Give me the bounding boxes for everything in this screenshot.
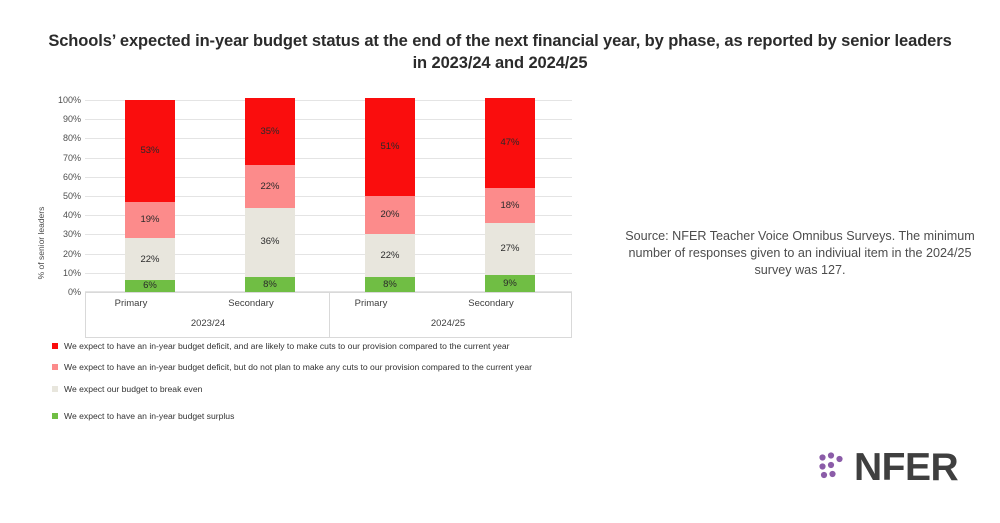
y-tick-label: 60%	[35, 172, 81, 182]
bar-segment-value-label: 9%	[503, 279, 517, 289]
bar-segment-value-label: 22%	[260, 182, 279, 192]
y-tick-label: 100%	[35, 95, 81, 105]
nfer-logo: NFER	[818, 444, 978, 494]
bar-segment-secondary-2023-s1: 22%	[245, 165, 295, 207]
y-axis-tick-labels: 100% 90% 80% 70% 60% 50% 40% 30% 20% 10%…	[33, 100, 81, 292]
bar-segment-secondary-2024-s3: 9%	[485, 275, 535, 292]
category-label-secondary-2023: Secondary	[196, 298, 306, 309]
bar-primary-2023: 53%19%22%6%	[125, 100, 175, 292]
legend-label: We expect to have an in-year budget defi…	[64, 340, 510, 352]
nfer-dots-icon	[818, 450, 852, 484]
y-tick-label: 30%	[35, 229, 81, 239]
bar-segment-value-label: 22%	[140, 255, 159, 265]
legend-swatch-icon	[52, 343, 58, 349]
bar-segment-primary-2024-s3: 8%	[365, 277, 415, 292]
page-title: Schools’ expected in-year budget status …	[40, 30, 960, 75]
y-tick-label: 70%	[35, 153, 81, 163]
legend-swatch-icon	[52, 364, 58, 370]
legend-swatch-icon	[52, 413, 58, 419]
bar-secondary-2024: 47%18%27%9%	[485, 98, 535, 292]
legend-item-deficit-cuts[interactable]: We expect to have an in-year budget defi…	[52, 340, 582, 352]
y-tick-label: 80%	[35, 133, 81, 143]
bar-segment-secondary-2024-s2: 27%	[485, 223, 535, 275]
bar-segment-value-label: 8%	[383, 280, 397, 290]
legend-label: We expect to have an in-year budget surp…	[64, 410, 234, 422]
legend-item-surplus[interactable]: We expect to have an in-year budget surp…	[52, 410, 582, 422]
bar-segment-value-label: 20%	[380, 210, 399, 220]
plot-area: 53%19%22%6%35%22%36%8%51%20%22%8%47%18%2…	[85, 100, 572, 292]
bar-segment-secondary-2023-s2: 36%	[245, 208, 295, 277]
category-label-secondary-2024: Secondary	[436, 298, 546, 309]
y-tick-label: 20%	[35, 249, 81, 259]
y-tick-label: 40%	[35, 210, 81, 220]
bar-segment-value-label: 47%	[500, 138, 519, 148]
bar-segment-value-label: 51%	[380, 142, 399, 152]
bar-segment-value-label: 19%	[140, 215, 159, 225]
nfer-wordmark: NFER	[854, 444, 958, 492]
bar-segment-value-label: 6%	[143, 281, 157, 291]
y-tick-label: 10%	[35, 268, 81, 278]
bar-segment-value-label: 53%	[140, 146, 159, 156]
y-tick-label: 90%	[35, 114, 81, 124]
bar-segment-value-label: 27%	[500, 244, 519, 254]
bar-segment-value-label: 35%	[260, 127, 279, 137]
bar-segment-value-label: 22%	[380, 251, 399, 261]
bar-segment-secondary-2023-s3: 8%	[245, 277, 295, 292]
category-axis: Primary Secondary Primary Secondary 2023…	[85, 292, 572, 338]
bar-segment-primary-2024-s1: 20%	[365, 196, 415, 234]
bar-segment-value-label: 8%	[263, 280, 277, 290]
bar-segment-primary-2024-s0: 51%	[365, 98, 415, 196]
bar-segment-primary-2024-s2: 22%	[365, 234, 415, 276]
legend-item-deficit-no-cuts[interactable]: We expect to have an in-year budget defi…	[52, 361, 582, 373]
legend-label: We expect to have an in-year budget defi…	[64, 361, 532, 373]
chart-legend: We expect to have an in-year budget defi…	[52, 340, 582, 432]
legend-item-break-even[interactable]: We expect our budget to break even	[52, 383, 582, 395]
y-tick-label: 50%	[35, 191, 81, 201]
y-tick-label: 0%	[35, 287, 81, 297]
category-label-primary-2023: Primary	[76, 298, 186, 309]
category-label-primary-2024: Primary	[316, 298, 426, 309]
bar-segment-secondary-2024-s0: 47%	[485, 98, 535, 188]
bar-segment-value-label: 18%	[500, 201, 519, 211]
bar-segment-secondary-2024-s1: 18%	[485, 188, 535, 223]
bar-segment-primary-2023-s2: 22%	[125, 238, 175, 280]
group-label-2024: 2024/25	[368, 318, 528, 329]
bar-segment-primary-2023-s1: 19%	[125, 202, 175, 238]
bar-segment-primary-2023-s0: 53%	[125, 100, 175, 202]
legend-label: We expect our budget to break even	[64, 383, 202, 395]
bar-segment-primary-2023-s3: 6%	[125, 280, 175, 292]
bar-segment-value-label: 36%	[260, 237, 279, 247]
source-note: Source: NFER Teacher Voice Omnibus Surve…	[620, 228, 980, 279]
legend-swatch-icon	[52, 386, 58, 392]
bar-segment-secondary-2023-s0: 35%	[245, 98, 295, 165]
bar-secondary-2023: 35%22%36%8%	[245, 98, 295, 292]
chart-container: % of senior leaders 100% 90% 80% 70% 60%…	[0, 88, 620, 338]
group-label-2023: 2023/24	[128, 318, 288, 329]
bar-primary-2024: 51%20%22%8%	[365, 98, 415, 292]
